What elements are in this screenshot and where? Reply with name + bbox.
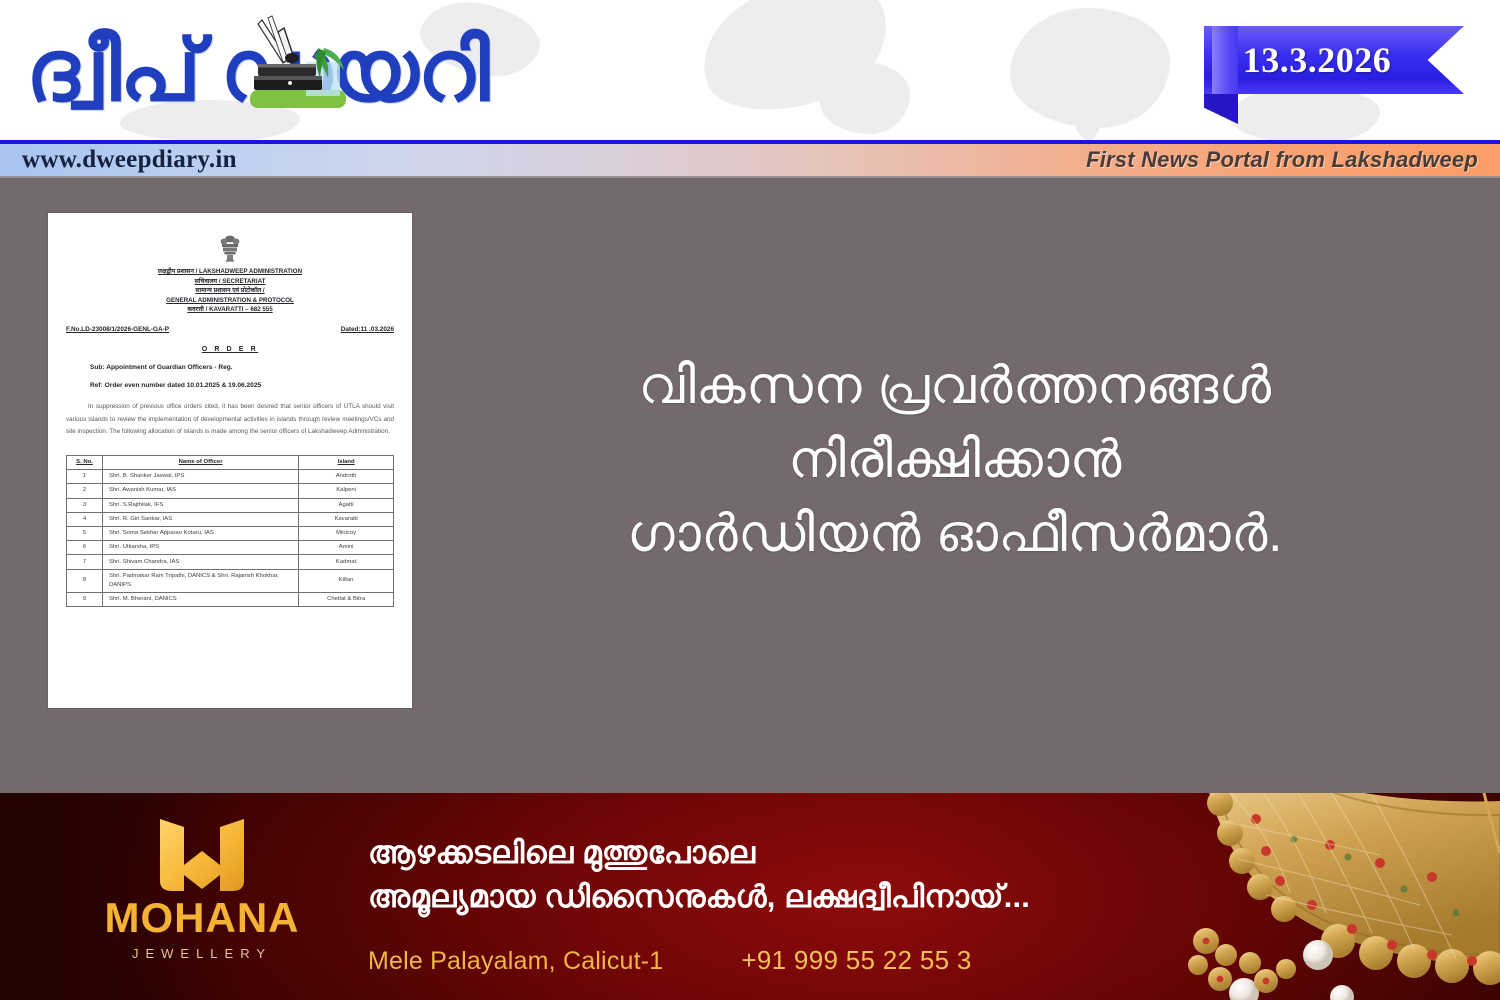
cell-sno: 5 <box>67 527 103 541</box>
cell-sno: 8 <box>67 569 103 592</box>
table-row: 4 Shri. R. Giri Sankar, IAS Kavaratti <box>67 512 394 526</box>
table-row: 6 Shri. Utkarsha, IPS Amini <box>67 541 394 555</box>
site-header: ദ്വീപ് ഡയറി 13.3.2026 <box>0 0 1500 140</box>
cell-sno: 7 <box>67 555 103 569</box>
cell-name: Shri. Padmakar Ram Tripathi, DANICS & Sh… <box>102 569 298 592</box>
cell-island: Kadmat <box>299 555 394 569</box>
cell-sno: 3 <box>67 498 103 512</box>
table-row: 1 Shri. B. Shanker Jaswal, IPS Androth <box>67 470 394 484</box>
site-logo[interactable]: ദ്വീപ് ഡയറി <box>26 12 489 130</box>
cell-name: Shri. Soma Sekhar Apparao Kotaru, IAS <box>102 527 298 541</box>
document-order-title: O R D E R <box>66 346 394 353</box>
table-row: 5 Shri. Soma Sekhar Apparao Kotaru, IAS … <box>67 527 394 541</box>
officer-allocation-table: S. No. Name of Officer Island 1 Shri. B.… <box>66 455 394 607</box>
table-row: 8 Shri. Padmakar Ram Tripathi, DANICS & … <box>67 569 394 592</box>
column-header-sno: S. No. <box>67 455 103 469</box>
ad-phone[interactable]: +91 999 55 22 55 3 <box>741 945 971 976</box>
cell-sno: 2 <box>67 484 103 498</box>
ad-copy-line-2: അമൂല്യമായ ഡിസൈനുകൾ, ലക്ഷദ്വീപിനായ്... <box>368 875 1158 919</box>
table-row: 9 Shri. M. Bherani, DANICS Chetlat & Bit… <box>67 592 394 606</box>
document-date: Dated:11 .03.2026 <box>341 326 394 333</box>
cell-sno: 4 <box>67 512 103 526</box>
ad-malayalam-copy: ആഴക്കടലിലെ മുത്തുപോലെ അമൂല്യമായ ഡിസൈനുകൾ… <box>368 831 1158 919</box>
advertiser-brand: MOHANA JEWELLERY <box>92 815 312 961</box>
cell-island: Chetlat & Bitra <box>299 592 394 606</box>
doc-head-line: सचिवालय / SECRETARIAT <box>66 277 394 287</box>
doc-head-line: सामान्य प्रशासन एवं प्रोटोकॉल / <box>66 286 394 296</box>
site-url[interactable]: www.dweepdiary.in <box>22 146 237 174</box>
tagline-bar: www.dweepdiary.in First News Portal from… <box>0 140 1500 178</box>
ad-contact-row: Mele Palayalam, Calicut-1 +91 999 55 22 … <box>368 945 1158 976</box>
cell-island: Kavaratti <box>299 512 394 526</box>
brand-subtitle: JEWELLERY <box>92 946 312 961</box>
table-row: 7 Shri. Shivam Chandra, IAS Kadmat <box>67 555 394 569</box>
cell-name: Shri. Awanish Kumar, IAS <box>102 484 298 498</box>
india-state-emblem-icon <box>217 233 243 263</box>
cell-name: Shri. M. Bherani, DANICS <box>102 592 298 606</box>
news-headline: വികസന പ്രവർത്തനങ്ങൾ നിരീക്ഷിക്കാൻ ഗാർഡിയ… <box>455 350 1455 571</box>
cell-island: Androth <box>299 470 394 484</box>
brand-name: MOHANA <box>92 897 312 939</box>
cell-island: Agatti <box>299 498 394 512</box>
ribbon-body: 13.3.2026 <box>1204 26 1464 94</box>
cell-name: Shri. Utkarsha, IPS <box>102 541 298 555</box>
site-tagline: First News Portal from Lakshadweep <box>1086 147 1478 173</box>
table-row: 2 Shri. Awanish Kumar, IAS Kalpeni <box>67 484 394 498</box>
cell-sno: 9 <box>67 592 103 606</box>
table-header-row: S. No. Name of Officer Island <box>67 455 394 469</box>
order-document-image[interactable]: लक्षद्वीप प्रशासन / LAKSHADWEEP ADMINIST… <box>48 213 412 708</box>
cell-name: Shri. S.Rajthilak, IFS <box>102 498 298 512</box>
cell-sno: 6 <box>67 541 103 555</box>
date-badge: 13.3.2026 <box>1196 26 1464 106</box>
headline-line-1: വികസന പ്രവർത്തനങ്ങൾ <box>455 350 1455 424</box>
cell-island: Kiltan <box>299 569 394 592</box>
news-card: ദ്വീപ് ഡയറി 13.3.2026 <box>0 0 1500 1000</box>
ad-address: Mele Palayalam, Calicut-1 <box>368 947 663 976</box>
cell-name: Shri. R. Giri Sankar, IAS <box>102 512 298 526</box>
ad-copy: ആഴക്കടലിലെ മുത്തുപോലെ അമൂല്യമായ ഡിസൈനുകൾ… <box>368 831 1158 976</box>
mohana-m-monogram-icon <box>154 815 250 893</box>
gold-necklace-icon <box>1080 793 1500 1000</box>
cell-island: Amini <box>299 541 394 555</box>
cell-sno: 1 <box>67 470 103 484</box>
headline-line-2: നിരീക്ഷിക്കാൻ <box>455 424 1455 498</box>
document-subject: Sub: Appointment of Guardian Officers - … <box>90 364 394 371</box>
table-body: 1 Shri. B. Shanker Jaswal, IPS Androth 2… <box>67 470 394 607</box>
headline-line-3: ഗാർഡിയൻ ഓഫീസർമാർ. <box>455 498 1455 572</box>
doc-head-line: लक्षद्वीप प्रशासन / LAKSHADWEEP ADMINIST… <box>66 267 394 277</box>
doc-head-line: कवरत्ती / KAVARATTI – 682 555 <box>66 305 394 315</box>
cell-island: Kalpeni <box>299 484 394 498</box>
cell-name: Shri. B. Shanker Jaswal, IPS <box>102 470 298 484</box>
doc-head-line: GENERAL ADMINISTRATION & PROTOCOL <box>66 296 394 306</box>
table-row: 3 Shri. S.Rajthilak, IFS Agatti <box>67 498 394 512</box>
advertisement-banner[interactable]: MOHANA JEWELLERY ആഴക്കടലിലെ മുത്തുപോലെ അ… <box>0 793 1500 1000</box>
document-header-block: लक्षद्वीप प्रशासन / LAKSHADWEEP ADMINIST… <box>66 267 394 315</box>
ad-copy-line-1: ആഴക്കടലിലെ മുത്തുപോലെ <box>368 831 1158 875</box>
column-header-name: Name of Officer <box>102 455 298 469</box>
document-file-no: F.No.LD-23008/1/2026-GENL-GA-P <box>66 326 169 333</box>
date-badge-text: 13.3.2026 <box>1204 39 1430 81</box>
content-area: लक्षद्वीप प्रशासन / LAKSHADWEEP ADMINIST… <box>0 180 1500 793</box>
cell-island: Minicoy <box>299 527 394 541</box>
document-file-line: F.No.LD-23008/1/2026-GENL-GA-P Dated:11 … <box>66 326 394 333</box>
document-reference: Ref: Order even number dated 10.01.2025 … <box>90 382 394 389</box>
cell-name: Shri. Shivam Chandra, IAS <box>102 555 298 569</box>
document-paragraph: In suppression of previous office orders… <box>66 401 394 439</box>
site-logo-text: ദ്വീപ് ഡയറി <box>26 28 489 114</box>
column-header-island: Island <box>299 455 394 469</box>
